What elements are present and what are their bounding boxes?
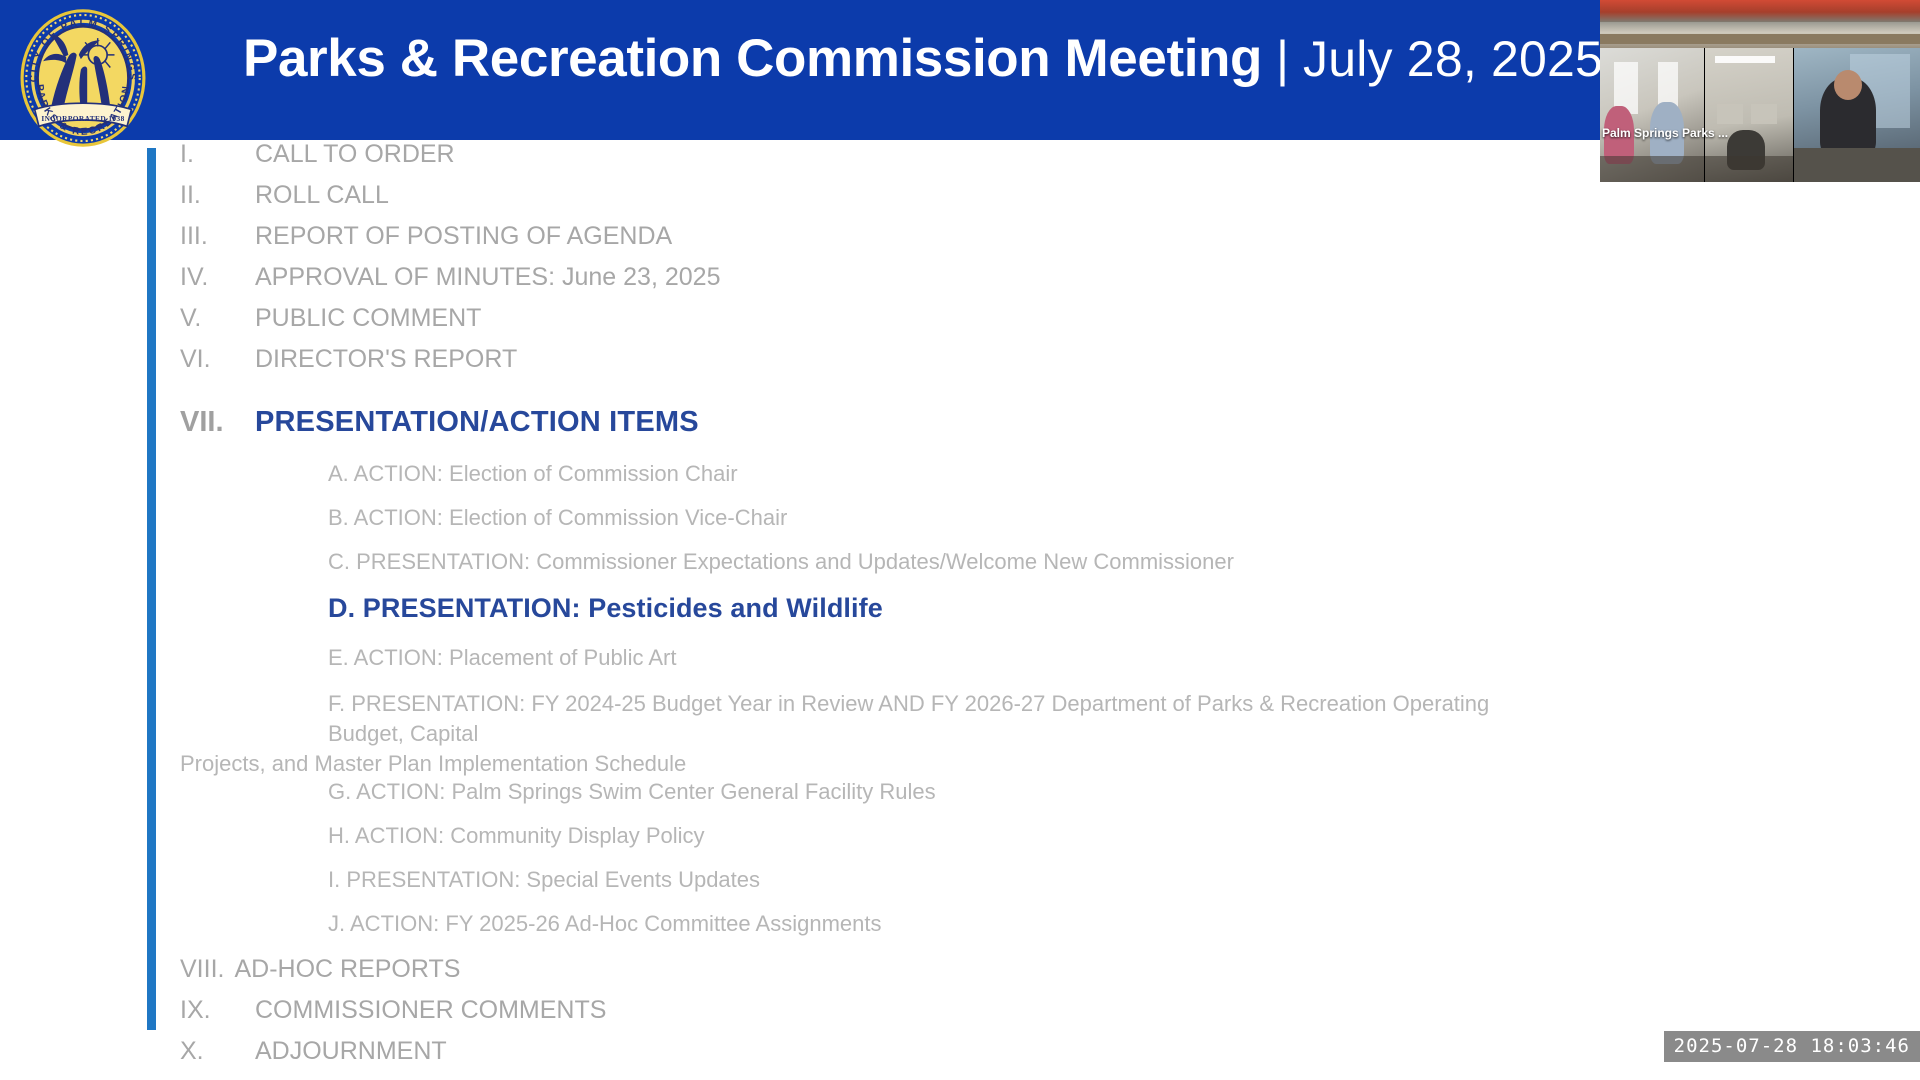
title-separator: |	[1262, 31, 1303, 87]
agenda-label: CALL TO ORDER	[255, 140, 455, 169]
agenda-label: PUBLIC COMMENT	[255, 304, 481, 333]
agenda-subitem-label: J. ACTION: FY 2025-26 Ad-Hoc Committee A…	[328, 911, 881, 937]
agenda-subitem-a: A. ACTION: Election of Commission Chair	[0, 461, 1600, 505]
slide-root: INCORPORATED 1938 CITY OF PALM SPRINGS P…	[0, 0, 1920, 1080]
video-tile-row	[1600, 48, 1920, 182]
agenda-subitem-label: D. PRESENTATION: Pesticides and Wildlife	[328, 593, 883, 624]
palm-springs-parks-recreation-seal-icon: INCORPORATED 1938 CITY OF PALM SPRINGS P…	[20, 8, 146, 148]
wall-panel-decor	[1717, 104, 1743, 124]
agenda-item-ii: II. ROLL CALL	[0, 181, 1600, 222]
agenda-label: REPORT OF POSTING OF AGENDA	[255, 222, 672, 251]
meeting-title-text: Parks & Recreation Commission Meeting	[243, 29, 1262, 88]
video-conference-thumbnails[interactable]: Palm Springs Parks ...	[1600, 0, 1920, 182]
agenda-subitem-label-line1: F. PRESENTATION: FY 2024-25 Budget Year …	[328, 689, 1510, 749]
agenda-subitem-i: I. PRESENTATION: Special Events Updates	[0, 867, 1600, 911]
table-decor	[1600, 156, 1704, 182]
agenda-label: COMMISSIONER COMMENTS	[255, 996, 606, 1025]
agenda-numeral: IX.	[180, 996, 255, 1025]
header-title: Parks & Recreation Commission Meeting|Ju…	[243, 32, 1603, 85]
agenda-numeral: V.	[180, 304, 255, 333]
ceiling-decor	[1600, 0, 1920, 22]
agenda-section-heading-vii: VII. PRESENTATION/ACTION ITEMS	[0, 406, 1600, 461]
agenda-subitem-b: B. ACTION: Election of Commission Vice-C…	[0, 505, 1600, 549]
light-fixture-decor	[1715, 56, 1775, 63]
agenda-item-x: X. ADJOURNMENT	[0, 1037, 1600, 1078]
agenda-subitem-label-line2: Projects, and Master Plan Implementation…	[180, 749, 1510, 779]
agenda-item-iii: III. REPORT OF POSTING OF AGENDA	[0, 222, 1600, 263]
agenda-label: AD-HOC REPORTS	[234, 955, 460, 984]
counter-decor	[1600, 34, 1920, 44]
agenda-numeral: X.	[180, 1037, 255, 1066]
agenda-label: DIRECTOR'S REPORT	[255, 345, 517, 374]
agenda-subitem-g: G. ACTION: Palm Springs Swim Center Gene…	[0, 779, 1600, 823]
agenda-subitem-label: G. ACTION: Palm Springs Swim Center Gene…	[328, 779, 936, 805]
agenda-numeral: VIII.	[180, 955, 234, 984]
agenda-list: I. CALL TO ORDER II. ROLL CALL III. REPO…	[0, 140, 1600, 1078]
agenda-subitem-label: B. ACTION: Election of Commission Vice-C…	[328, 505, 787, 531]
agenda-numeral: IV.	[180, 263, 255, 292]
agenda-item-iv: IV. APPROVAL OF MINUTES: June 23, 2025	[0, 263, 1600, 304]
agenda-item-vi: VI. DIRECTOR'S REPORT	[0, 345, 1600, 386]
agenda-subitem-label: C. PRESENTATION: Commissioner Expectatio…	[328, 549, 1234, 575]
agenda-numeral: II.	[180, 181, 255, 210]
agenda-subitem-c: C. PRESENTATION: Commissioner Expectatio…	[0, 549, 1600, 593]
agenda-label: APPROVAL OF MINUTES: June 23, 2025	[255, 263, 720, 292]
agenda-label: ROLL CALL	[255, 181, 389, 210]
agenda-subitem-j: J. ACTION: FY 2025-26 Ad-Hoc Committee A…	[0, 911, 1600, 955]
agenda-item-i: I. CALL TO ORDER	[0, 140, 1600, 181]
video-stream-label: Palm Springs Parks ...	[1602, 126, 1728, 140]
wall-panel-decor	[1751, 104, 1777, 124]
agenda-subitem-label: A. ACTION: Election of Commission Chair	[328, 461, 738, 487]
agenda-numeral: III.	[180, 222, 255, 251]
video-tile-empty-room[interactable]	[1705, 48, 1793, 182]
recording-timestamp: 2025-07-28 18:03:46	[1664, 1031, 1920, 1062]
desk-decor	[1794, 148, 1920, 182]
agenda-subitem-label: E. ACTION: Placement of Public Art	[328, 645, 676, 671]
table-decor	[1705, 156, 1793, 182]
agenda-subitem-d-current: D. PRESENTATION: Pesticides and Wildlife	[0, 593, 1600, 645]
agenda-subitem-h: H. ACTION: Community Display Policy	[0, 823, 1600, 867]
agenda-subitem-f: F. PRESENTATION: FY 2024-25 Budget Year …	[0, 689, 1600, 779]
participant-head	[1834, 70, 1862, 100]
agenda-item-v: V. PUBLIC COMMENT	[0, 304, 1600, 345]
agenda-numeral: VI.	[180, 345, 255, 374]
agenda-subitem-e: E. ACTION: Placement of Public Art	[0, 645, 1600, 689]
agenda-section-label: PRESENTATION/ACTION ITEMS	[255, 406, 699, 439]
video-tile-wide-room[interactable]	[1600, 0, 1920, 48]
agenda-numeral: I.	[180, 140, 255, 169]
agenda-subitem-label: I. PRESENTATION: Special Events Updates	[328, 867, 760, 893]
agenda-item-viii: VIII. AD-HOC REPORTS	[0, 955, 1600, 996]
agenda-numeral: VII.	[180, 406, 255, 439]
video-tile-person-at-desk[interactable]	[1794, 48, 1920, 182]
video-tile-two-people[interactable]	[1600, 48, 1704, 182]
agenda-item-ix: IX. COMMISSIONER COMMENTS	[0, 996, 1600, 1037]
meeting-date-text: July 28, 2025	[1303, 31, 1603, 87]
agenda-label: ADJOURNMENT	[255, 1037, 447, 1066]
agenda-subitem-label: H. ACTION: Community Display Policy	[328, 823, 705, 849]
